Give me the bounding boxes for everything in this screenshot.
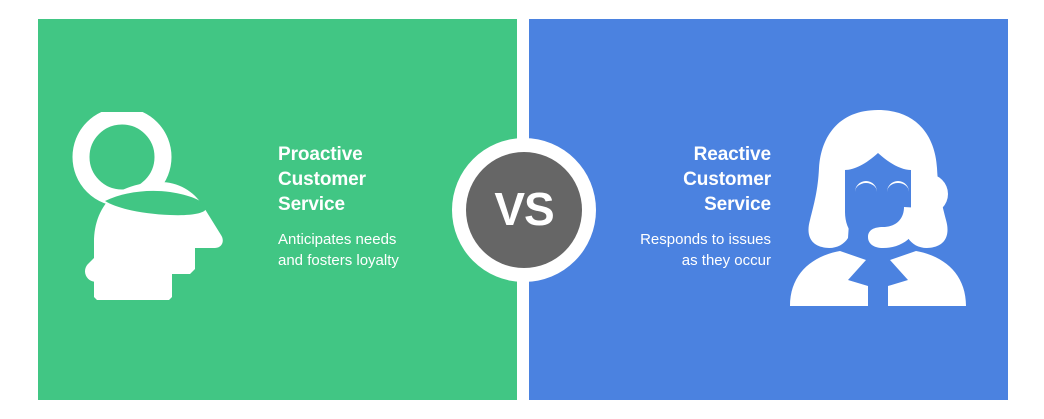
vs-badge-circle: VS [466, 152, 582, 268]
vs-badge: VS [452, 138, 596, 282]
comparison-infographic: Proactive Customer Service Anticipates n… [0, 0, 1044, 419]
head-with-magnifier-icon [72, 112, 242, 307]
support-agent-headset-icon [788, 108, 968, 308]
vs-label: VS [494, 186, 553, 232]
